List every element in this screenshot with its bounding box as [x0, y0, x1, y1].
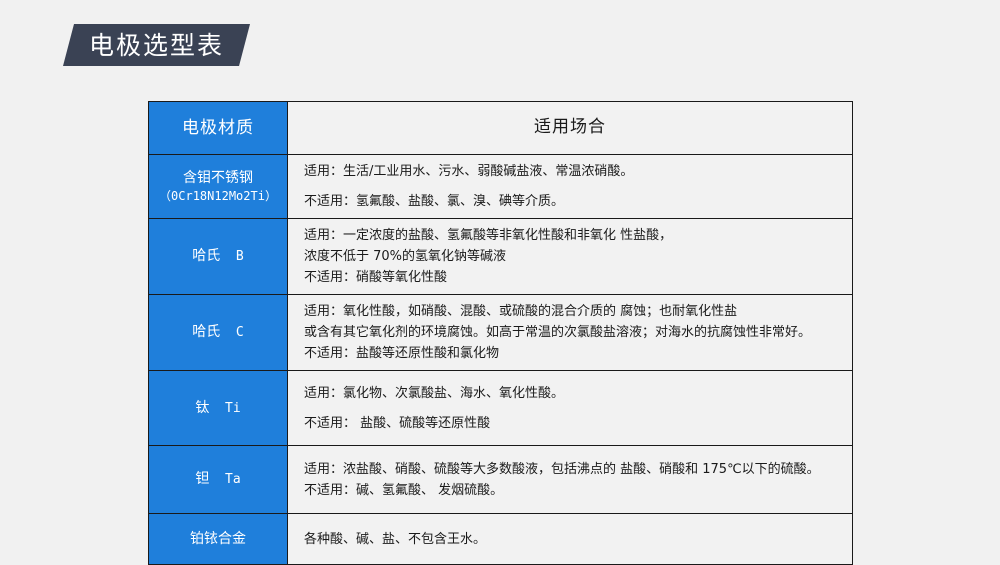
- column-header-material: 电极材质: [149, 102, 288, 155]
- material-symbol: Ti: [209, 401, 240, 416]
- usage-line: 各种酸、碱、盐、不包含王水。: [304, 529, 838, 550]
- table-row: 哈氏 B适用：一定浓度的盐酸、氢氟酸等非氧化性酸和非氧化 性盐酸，浓度不低于 7…: [149, 219, 853, 295]
- material-code: （0Cr18N12Mo2Ti）: [151, 188, 285, 205]
- material-cell: 含钼不锈钢（0Cr18N12Mo2Ti）: [149, 155, 288, 219]
- table-row: 含钼不锈钢（0Cr18N12Mo2Ti）适用：生活/工业用水、污水、弱酸碱盐液、…: [149, 155, 853, 219]
- material-name: 哈氏 C: [151, 322, 285, 343]
- material-cell: 钽 Ta: [149, 446, 288, 514]
- usage-cell: 适用：浓盐酸、硝酸、硫酸等大多数酸液，包括沸点的 盐酸、硝酸和 175℃以下的硫…: [288, 446, 853, 514]
- material-cell: 哈氏 B: [149, 219, 288, 295]
- usage-line: 或含有其它氧化剂的环境腐蚀。如高于常温的次氯酸盐溶液；对海水的抗腐蚀性非常好。: [304, 322, 838, 343]
- table-row: 铂铱合金各种酸、碱、盐、不包含王水。: [149, 514, 853, 565]
- usage-line: 不适用：碱、氢氟酸、 发烟硫酸。: [304, 480, 838, 501]
- usage-cell: 适用：氯化物、次氯酸盐、海水、氧化性酸。不适用： 盐酸、硫酸等还原性酸: [288, 371, 853, 446]
- material-cell: 铂铱合金: [149, 514, 288, 565]
- usage-cell: 各种酸、碱、盐、不包含王水。: [288, 514, 853, 565]
- table-row: 钽 Ta适用：浓盐酸、硝酸、硫酸等大多数酸液，包括沸点的 盐酸、硝酸和 175℃…: [149, 446, 853, 514]
- page-title-banner: 电极选型表: [63, 24, 250, 66]
- material-cell: 钛 Ti: [149, 371, 288, 446]
- material-symbol: B: [220, 249, 243, 264]
- material-name: 铂铱合金: [151, 529, 285, 549]
- material-symbol: Ta: [209, 472, 240, 487]
- electrode-selection-table: 电极材质 适用场合 含钼不锈钢（0Cr18N12Mo2Ti）适用：生活/工业用水…: [148, 101, 853, 565]
- usage-line: 浓度不低于 70%的氢氧化钠等碱液: [304, 246, 838, 267]
- usage-cell: 适用：生活/工业用水、污水、弱酸碱盐液、常温浓硝酸。不适用：氢氟酸、盐酸、氯、溴…: [288, 155, 853, 219]
- material-name: 钛 Ti: [151, 398, 285, 419]
- electrode-selection-table-wrapper: 电极材质 适用场合 含钼不锈钢（0Cr18N12Mo2Ti）适用：生活/工业用水…: [148, 101, 852, 565]
- page-title: 电极选型表: [89, 33, 224, 58]
- material-symbol: C: [220, 325, 243, 340]
- usage-cell: 适用：一定浓度的盐酸、氢氟酸等非氧化性酸和非氧化 性盐酸，浓度不低于 70%的氢…: [288, 219, 853, 295]
- material-name: 含钼不锈钢: [151, 168, 285, 188]
- usage-line: 适用：氯化物、次氯酸盐、海水、氧化性酸。: [304, 383, 838, 404]
- usage-cell: 适用：氧化性酸，如硝酸、混酸、或硫酸的混合介质的 腐蚀；也耐氧化性盐或含有其它氧…: [288, 295, 853, 371]
- table-row: 钛 Ti适用：氯化物、次氯酸盐、海水、氧化性酸。不适用： 盐酸、硫酸等还原性酸: [149, 371, 853, 446]
- usage-line: 适用：生活/工业用水、污水、弱酸碱盐液、常温浓硝酸。: [304, 161, 838, 182]
- material-name: 哈氏 B: [151, 246, 285, 267]
- usage-line: 不适用： 盐酸、硫酸等还原性酸: [304, 413, 838, 434]
- table-body: 电极材质 适用场合 含钼不锈钢（0Cr18N12Mo2Ti）适用：生活/工业用水…: [149, 102, 853, 565]
- usage-line: 不适用：盐酸等还原性酸和氯化物: [304, 343, 838, 364]
- material-cell: 哈氏 C: [149, 295, 288, 371]
- usage-line: 不适用：硝酸等氧化性酸: [304, 267, 838, 288]
- material-name: 钽 Ta: [151, 469, 285, 490]
- usage-line: 适用：氧化性酸，如硝酸、混酸、或硫酸的混合介质的 腐蚀；也耐氧化性盐: [304, 301, 838, 322]
- table-header-row: 电极材质 适用场合: [149, 102, 853, 155]
- table-row: 哈氏 C适用：氧化性酸，如硝酸、混酸、或硫酸的混合介质的 腐蚀；也耐氧化性盐或含…: [149, 295, 853, 371]
- column-header-usage: 适用场合: [288, 102, 853, 155]
- usage-line: 不适用：氢氟酸、盐酸、氯、溴、碘等介质。: [304, 191, 838, 212]
- usage-line: 适用：浓盐酸、硝酸、硫酸等大多数酸液，包括沸点的 盐酸、硝酸和 175℃以下的硫…: [304, 459, 838, 480]
- usage-line: 适用：一定浓度的盐酸、氢氟酸等非氧化性酸和非氧化 性盐酸，: [304, 225, 838, 246]
